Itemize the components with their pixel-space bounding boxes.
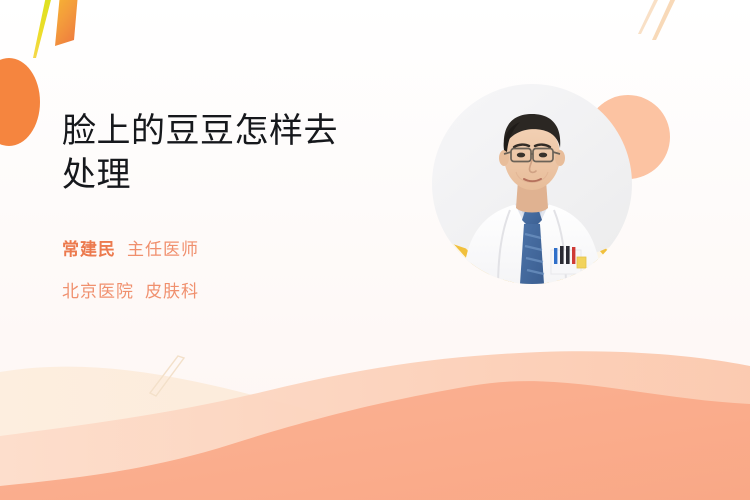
doctor-name: 常建民: [62, 240, 116, 259]
doctor-portrait: [432, 84, 632, 284]
video-title-card: 脸上的豆豆怎样去 处理 常建民主任医师 北京医院皮肤科: [0, 0, 750, 500]
doctor-affiliation-line: 北京医院皮肤科: [62, 277, 412, 302]
portrait-clip-group: [432, 84, 632, 284]
page-title: 脸上的豆豆怎样去 处理: [62, 110, 412, 197]
necktie-icon: [520, 208, 544, 284]
hospital-name: 北京医院: [62, 282, 134, 301]
text-block: 脸上的豆豆怎样去 处理 常建民主任医师 北京医院皮肤科: [62, 110, 412, 302]
doctor-title: 主任医师: [127, 240, 199, 259]
department-name: 皮肤科: [145, 282, 199, 301]
doctor-identity-line: 常建民主任医师: [62, 241, 412, 259]
